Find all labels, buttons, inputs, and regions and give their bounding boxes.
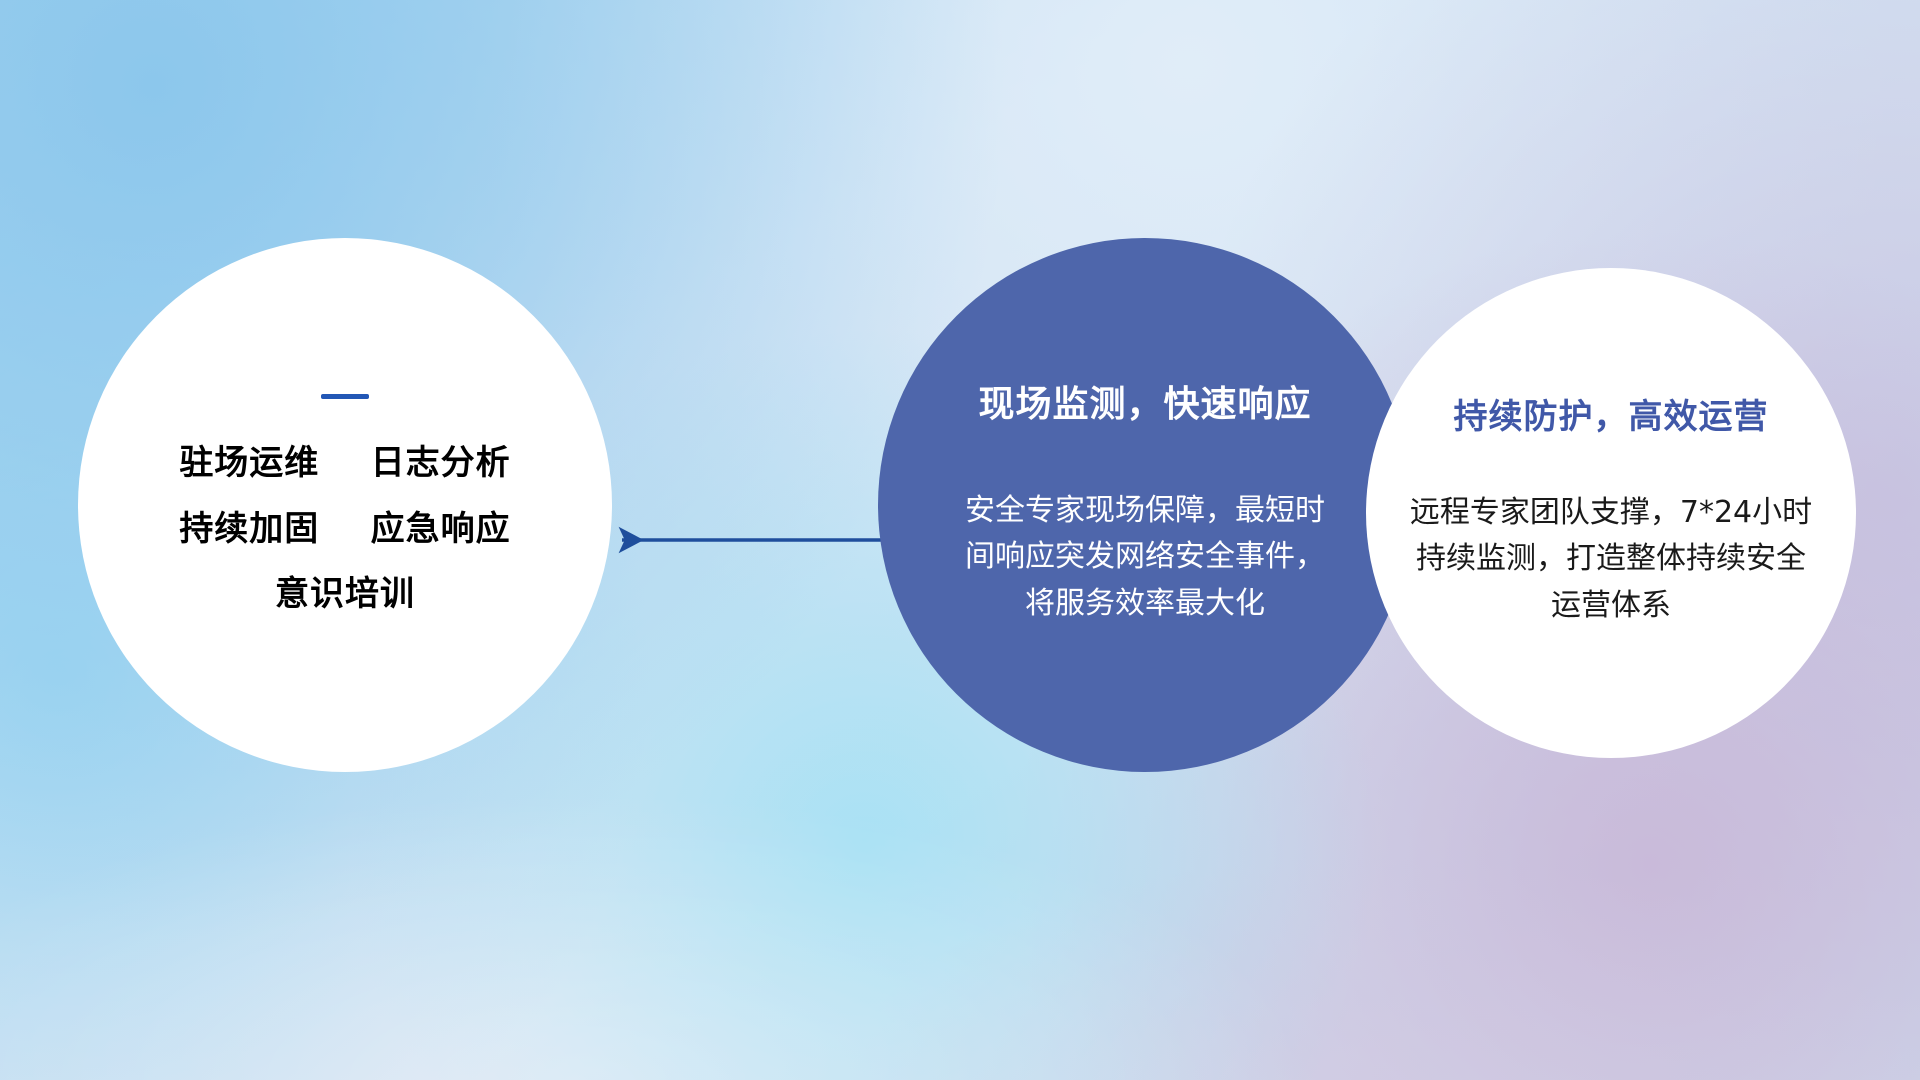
slide-canvas: 驻场运维 日志分析 持续加固 应急响应 意识培训 现场监测，快速响应 安全专家现… bbox=[0, 0, 1920, 1080]
flow-arrow-left-icon bbox=[600, 510, 910, 570]
service-capability-circle[interactable]: 驻场运维 日志分析 持续加固 应急响应 意识培训 bbox=[78, 238, 612, 772]
divider-dash-icon bbox=[321, 394, 369, 399]
capability-line-2: 持续加固 应急响应 bbox=[179, 509, 510, 550]
capability-line-1: 驻场运维 日志分析 bbox=[179, 443, 510, 484]
capability-line-3: 意识培训 bbox=[275, 574, 415, 615]
onsite-monitoring-circle[interactable]: 现场监测，快速响应 安全专家现场保障，最短时间响应突发网络安全事件，将服务效率最… bbox=[878, 238, 1412, 772]
continuous-protection-body: 远程专家团队支撑，7*24小时持续监测，打造整体持续安全运营体系 bbox=[1406, 490, 1816, 630]
onsite-monitoring-body: 安全专家现场保障，最短时间响应突发网络安全事件，将服务效率最大化 bbox=[955, 488, 1335, 628]
continuous-protection-circle[interactable]: 持续防护，高效运营 远程专家团队支撑，7*24小时持续监测，打造整体持续安全运营… bbox=[1366, 268, 1856, 758]
onsite-monitoring-title: 现场监测，快速响应 bbox=[978, 383, 1311, 426]
continuous-protection-title: 持续防护，高效运营 bbox=[1454, 397, 1769, 438]
